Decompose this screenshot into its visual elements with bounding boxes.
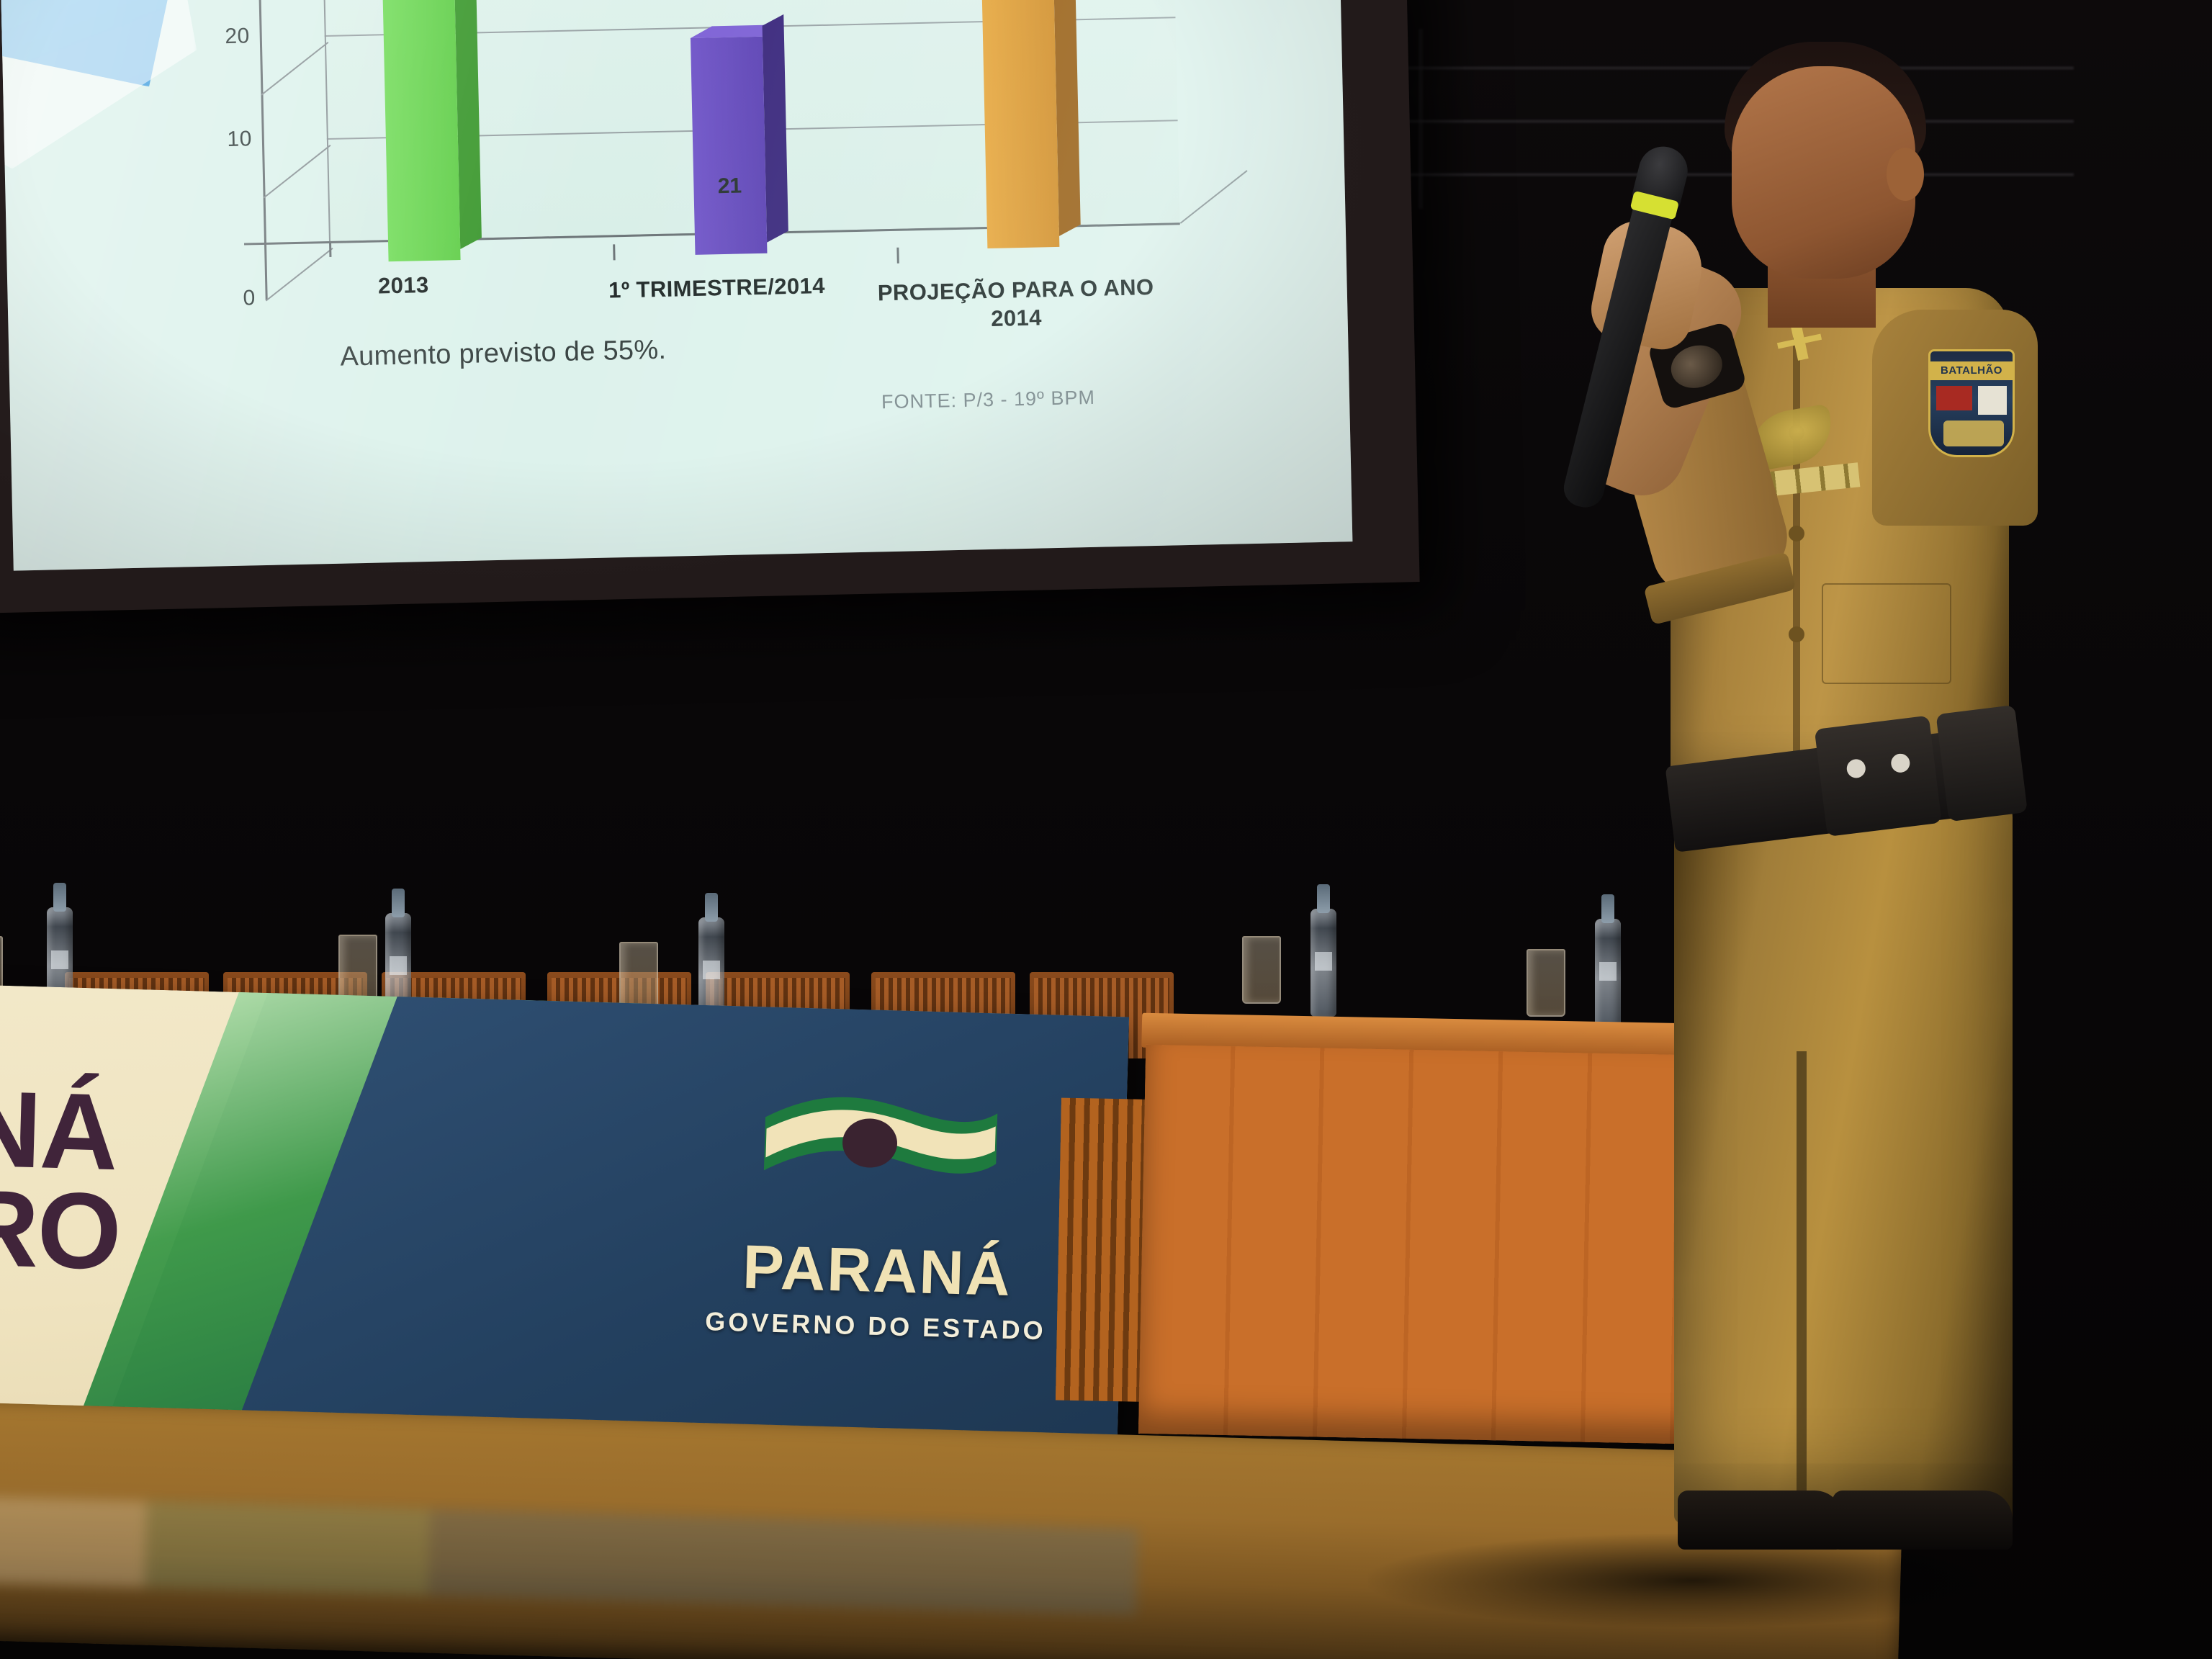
x-category-label-2013: 2013 (295, 269, 512, 302)
bar-1tri-2014-value-label: 21 (717, 174, 742, 199)
depth-line-10 (264, 145, 331, 199)
banner-headline-line2: URO (0, 1175, 346, 1287)
glass-5 (1527, 949, 1565, 1017)
event-banner: ANÁ URO PARANÁ GOVERNO DO ESTADO (0, 985, 1129, 1449)
officer-shirt-button-3 (1789, 626, 1804, 642)
officer-shoe-right (1833, 1491, 2013, 1550)
ytick-label-20: 20 (192, 24, 250, 50)
bar-2013-face (377, 0, 461, 261)
officer-belt-pouch-2 (1935, 705, 2027, 822)
scene-root: PMPR (0, 0, 2212, 1659)
depth-line-right (1180, 170, 1248, 224)
ytick-label-10: 10 (194, 127, 253, 153)
bar-1tri-2014: 21 (691, 37, 768, 255)
officer-shoe-left (1678, 1491, 1843, 1550)
glass-2 (338, 935, 377, 1002)
chart-plot-area: 50 40 30 20 10 0 54 (230, 0, 1180, 258)
xtick-1 (613, 244, 615, 260)
parana-wordmark: PARANÁ (675, 1230, 1080, 1313)
glass-3 (619, 942, 658, 1010)
pouch-snap-icon (1845, 758, 1866, 779)
officer-ear (1887, 148, 1924, 201)
parana-government-logo: PARANÁ GOVERNO DO ESTADO (673, 1080, 1084, 1346)
bar-2013: 54 (377, 0, 461, 261)
banner-reflection (0, 1496, 1138, 1615)
bar-chart: 50 40 30 20 10 0 54 (101, 0, 1240, 375)
banner-headline: ANÁ URO (0, 1076, 349, 1287)
ytick-label-0: 0 (197, 286, 256, 312)
speaker-officer: BATALHÃO (1584, 22, 2131, 1642)
officer-patch-text: BATALHÃO (1930, 361, 2013, 380)
chart-annotation: Aumento previsto de 55%. (340, 335, 667, 373)
glass-4 (1242, 936, 1281, 1004)
officer-trouser-crease (1797, 1051, 1807, 1512)
y-axis-line (251, 0, 268, 300)
projection-screen: PMPR (0, 0, 1420, 613)
officer-belt-pouch-1 (1815, 716, 1942, 837)
chart-source-note: FONTE: P/3 - 19º BPM (881, 387, 1096, 413)
officer-shirt-pocket (1822, 583, 1951, 684)
officer-shirt-button-2 (1789, 526, 1804, 541)
bottle-4 (1310, 909, 1336, 1017)
officer-shoulder-patch: BATALHÃO (1928, 349, 2015, 457)
officer-shirt-placket (1793, 331, 1800, 763)
officer-trousers (1674, 796, 2013, 1523)
xtick-2 (896, 248, 899, 264)
x-category-label-1tri: 1º TRIMESTRE/2014 (562, 271, 872, 306)
presentation-slide: PMPR (0, 0, 1352, 571)
depth-line-20 (261, 42, 328, 96)
officer-patch-crest-icon (1943, 421, 2004, 446)
bar-1tri-2014-face (691, 37, 768, 255)
x-category-label-projecao: PROJEÇÃO PARA O ANO 2014 (871, 274, 1161, 336)
officer-patch-red-field (1936, 386, 1972, 410)
pouch-snap-icon (1890, 752, 1911, 773)
parana-flag-icon (760, 1082, 1001, 1226)
xtick-0 (329, 241, 331, 257)
officer-patch-emblem (1978, 386, 2007, 415)
